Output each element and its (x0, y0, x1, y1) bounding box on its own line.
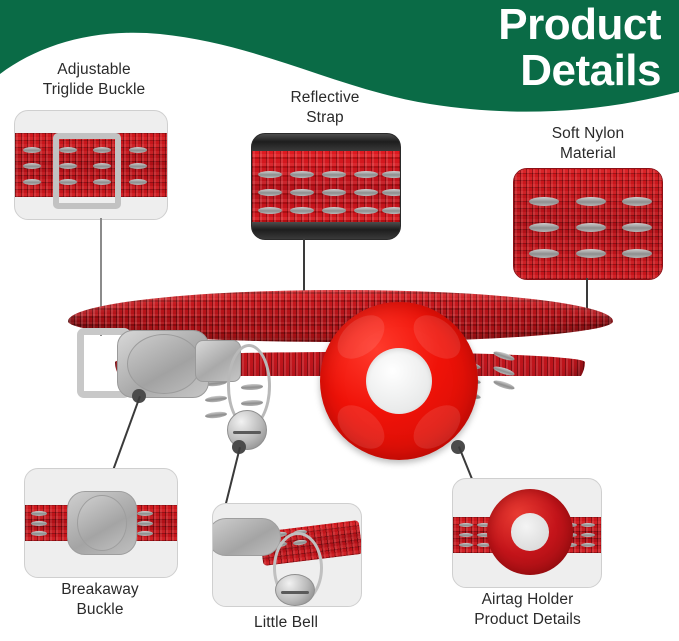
callout-box-reflective-strap (251, 133, 401, 240)
reflective-dash (459, 523, 473, 527)
airtag-lobe (329, 397, 392, 458)
reflective-dash (529, 197, 559, 206)
reflective-dash (31, 511, 47, 516)
reflective-dash (23, 147, 41, 153)
reflective-dash (290, 171, 314, 178)
reflective-dash (137, 531, 153, 536)
reflective-dash (354, 189, 378, 196)
breakaway-buckle-edge (212, 518, 281, 556)
airtag-holder (487, 489, 573, 575)
triglide-buckle-frame (53, 133, 121, 209)
label-airtag-holder: Airtag Holder Product Details (440, 590, 615, 630)
reflective-dash (129, 163, 147, 169)
callout-box-little-bell (212, 503, 362, 607)
callout-box-soft-nylon-material (513, 168, 663, 280)
reflective-dash (529, 249, 559, 258)
label-line-2: Buckle (24, 600, 176, 620)
reflective-dash (290, 207, 314, 214)
label-line-1: Little Bell (212, 613, 360, 633)
callout-box-adjustable-triglide-buckle (14, 110, 168, 220)
label-adjustable-triglide-buckle: Adjustable Triglide Buckle (14, 60, 174, 100)
reflective-dash (622, 249, 652, 258)
label-line-1: Airtag Holder (440, 590, 615, 610)
reflective-dash (137, 521, 153, 526)
label-breakaway-buckle: Breakaway Buckle (24, 580, 176, 620)
reflective-dash (258, 189, 282, 196)
product-details-infographic: Product Details Adjustable Triglide Buck… (0, 0, 679, 641)
label-line-1: Soft Nylon (513, 124, 663, 144)
bell-slit (281, 591, 310, 594)
label-line-2: Material (513, 144, 663, 164)
reflective-dash (459, 543, 473, 547)
banner-title-line2: Details (401, 48, 661, 94)
reflective-dash (31, 521, 47, 526)
reflective-dash (382, 189, 401, 196)
label-line-2: Product Details (440, 610, 615, 630)
reflective-dash (576, 197, 606, 206)
reflective-dash (23, 179, 41, 185)
reflective-dash (459, 533, 473, 537)
reflective-dash (576, 223, 606, 232)
label-little-bell: Little Bell (212, 613, 360, 633)
callout-box-airtag-holder (452, 478, 602, 588)
reflective-dash (354, 207, 378, 214)
little-bell (275, 574, 315, 606)
bell-slit (233, 431, 262, 434)
reflective-dash (581, 533, 595, 537)
airtag-center (511, 513, 549, 551)
label-line-2: Strap (250, 108, 400, 128)
reflective-dash (322, 171, 346, 178)
reflective-dash (290, 189, 314, 196)
breakaway-buckle-face (77, 495, 127, 551)
reflective-dash (137, 511, 153, 516)
label-line-1: Adjustable (14, 60, 174, 80)
reflective-dash (529, 223, 559, 232)
label-line-1: Reflective (250, 88, 400, 108)
reflective-dash (382, 207, 401, 214)
reflective-dash (258, 171, 282, 178)
callout-box-breakaway-buckle (24, 468, 178, 578)
reflective-dash (31, 531, 47, 536)
reflective-dash (622, 223, 652, 232)
reflective-dash (622, 197, 652, 206)
reflective-dash (258, 207, 282, 214)
label-line-2: Triglide Buckle (14, 80, 174, 100)
reflective-dash (23, 163, 41, 169)
reflective-dash (382, 171, 401, 178)
breakaway-buckle-face (127, 334, 201, 394)
reflective-dash (581, 543, 595, 547)
collar-product-image (55, 280, 625, 495)
strap-edge-top (252, 134, 400, 151)
label-reflective-strap: Reflective Strap (250, 88, 400, 128)
banner-title: Product Details (401, 2, 661, 94)
banner-title-line1: Product (498, 0, 661, 49)
reflective-dash (581, 523, 595, 527)
reflective-dash (354, 171, 378, 178)
strap-edge-bottom (252, 222, 400, 239)
reflective-dash (576, 249, 606, 258)
reflective-dash (322, 189, 346, 196)
reflective-dash (322, 207, 346, 214)
label-line-1: Breakaway (24, 580, 176, 600)
airtag-holder (320, 302, 478, 460)
reflective-dash (129, 179, 147, 185)
reflective-dash (129, 147, 147, 153)
label-soft-nylon-material: Soft Nylon Material (513, 124, 663, 164)
